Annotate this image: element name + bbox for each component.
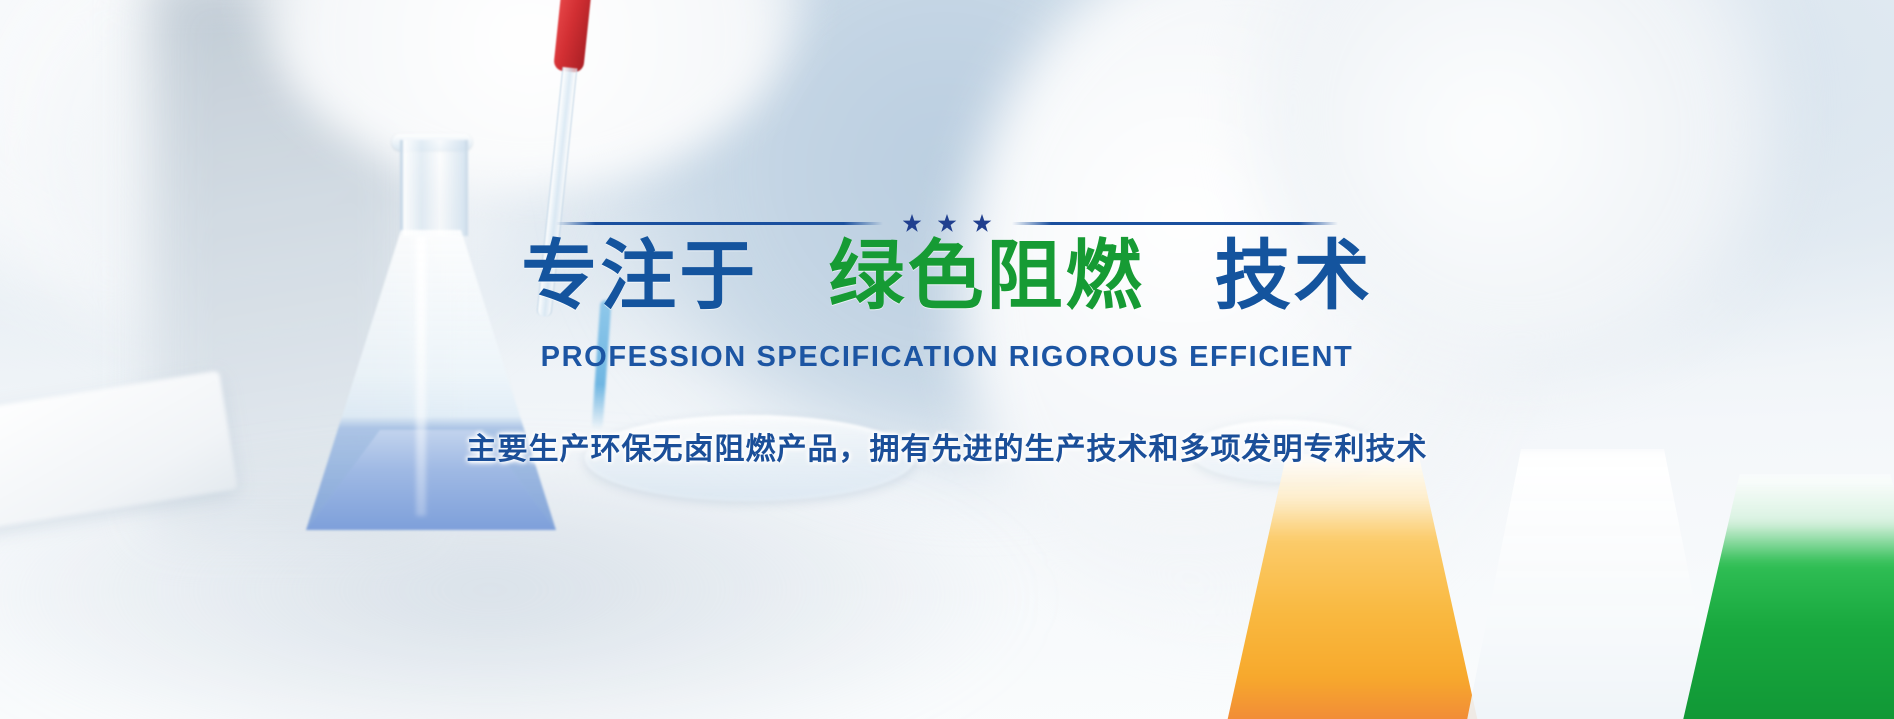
star-icon: [938, 214, 957, 233]
star-icon: [973, 214, 992, 233]
headline: 专注于 绿色阻燃 技术: [0, 236, 1894, 318]
headline-subtitle-english: PROFESSION SPECIFICATION RIGOROUS EFFICI…: [0, 341, 1894, 374]
banner-description: 主要生产环保无卤阻燃产品，拥有先进的生产技术和多项发明专利技术: [0, 424, 1894, 468]
headline-part-1: 专注于: [521, 234, 758, 319]
horizontal-rule-left: [556, 222, 883, 225]
headline-part-2: 绿色阻燃: [829, 234, 1145, 319]
foreground-beaker-white: [1455, 449, 1730, 719]
hero-banner: 专注于 绿色阻燃 技术 PROFESSION SPECIFICATION RIG…: [0, 0, 1894, 719]
star-group: [897, 214, 998, 233]
horizontal-rule-right: [1012, 222, 1339, 225]
flask-neck: [400, 140, 468, 236]
erlenmeyer-flask: [300, 140, 560, 540]
star-icon: [903, 214, 922, 233]
foreground-flask-green: [1670, 474, 1894, 719]
decorative-divider: [556, 214, 1338, 233]
headline-part-3: 技术: [1215, 234, 1373, 319]
